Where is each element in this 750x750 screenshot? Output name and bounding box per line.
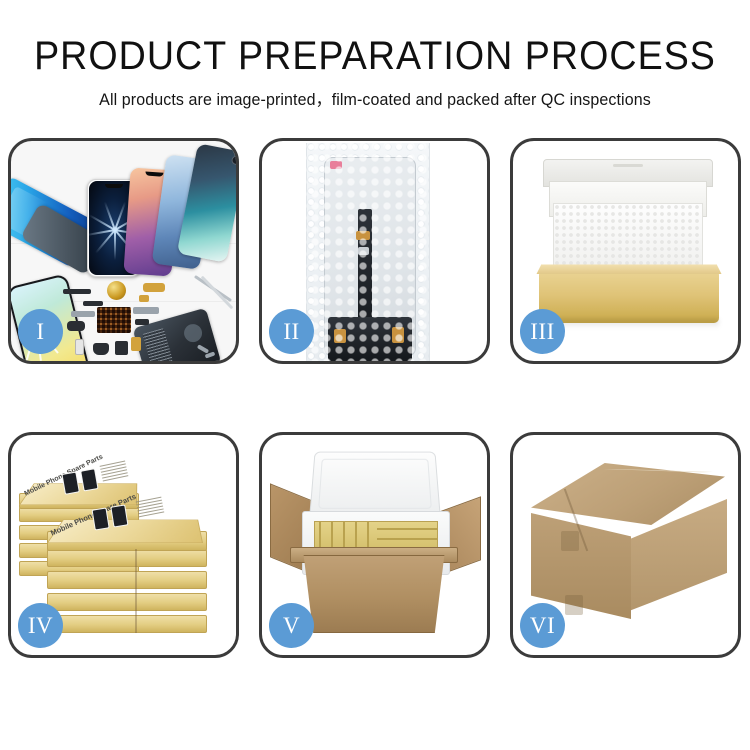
connector-gold xyxy=(139,295,149,302)
step-panel-5: V xyxy=(259,432,490,658)
connector-upper xyxy=(356,231,370,240)
carton-handle-tab-upper xyxy=(561,531,579,551)
step-badge-3: III xyxy=(520,309,565,354)
step-panel-4: Mobile Phone Spare Parts xyxy=(8,432,239,658)
connector-mid xyxy=(358,247,369,255)
carton-handle-tab-lower xyxy=(565,595,583,615)
step-badge-4: IV xyxy=(18,603,63,648)
step-panel-1: I xyxy=(8,138,239,364)
pink-label-tab xyxy=(330,161,342,169)
speaker-part xyxy=(63,289,91,294)
sim-tray-part xyxy=(75,339,84,355)
step-badge-1: I xyxy=(18,309,63,354)
ic-chip-array xyxy=(97,307,131,333)
antenna-part xyxy=(83,301,103,306)
taptic-part xyxy=(115,341,128,355)
box-feature-list-front xyxy=(136,497,165,518)
earpiece-part xyxy=(93,343,109,355)
flex-cable-gold xyxy=(143,283,165,292)
step-badge-2: II xyxy=(269,309,314,354)
tweezer-tool-arm xyxy=(201,276,234,310)
step-panel-3: III xyxy=(510,138,741,364)
bracket-part xyxy=(71,311,95,317)
small-chip-part xyxy=(135,319,149,325)
vibration-motor-part xyxy=(107,281,126,300)
product-preparation-infographic: PRODUCT PREPARATION PROCESS All products… xyxy=(0,0,750,750)
step-panel-2: II xyxy=(259,138,490,364)
flex-cable-strip xyxy=(358,209,372,321)
foam-cooler-lid xyxy=(309,452,441,517)
camera-module-part xyxy=(67,321,85,331)
shield-plate-part xyxy=(133,307,159,314)
page-title: PRODUCT PREPARATION PROCESS xyxy=(23,33,728,79)
tray-shadow xyxy=(539,319,719,329)
connector-left-foot xyxy=(334,329,346,343)
battery-connector-part xyxy=(131,337,141,351)
step-badge-5: V xyxy=(269,603,314,648)
carton-body xyxy=(294,555,454,633)
header: PRODUCT PREPARATION PROCESS All products… xyxy=(0,0,750,110)
gold-box-tray xyxy=(539,273,719,323)
box-feature-list-rear xyxy=(100,460,129,481)
page-subtitle: All products are image-printed，film-coat… xyxy=(11,86,739,110)
connector-right-foot xyxy=(392,327,404,343)
step-badge-6: VI xyxy=(520,603,565,648)
step-panel-6: VI xyxy=(510,432,741,658)
steps-grid: I II xyxy=(8,138,742,684)
